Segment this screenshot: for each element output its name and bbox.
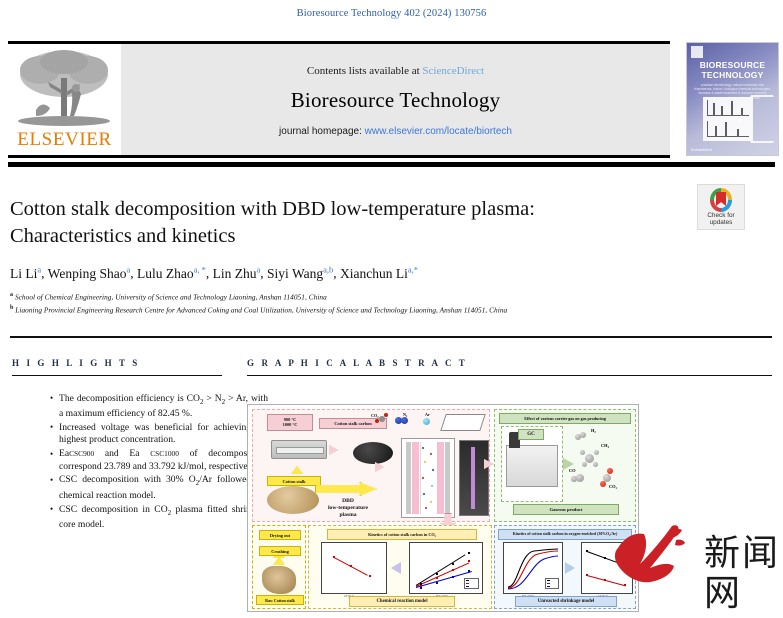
unreacted-shrinkage-model-label: Unreacted shrinkage model [515, 596, 617, 607]
list-item: The decomposition efficiency is CO2 > N2… [50, 393, 268, 421]
dbd-line3: plasma [339, 512, 356, 518]
arrow-to-dbd-icon [315, 482, 377, 496]
list-item: EaCSC900 and Ea CSC1000 of decomposi-tio… [50, 448, 268, 473]
elsevier-logo: ELSEVIER [8, 44, 121, 155]
author-name: Xianchun Li [340, 266, 408, 281]
dbd-line1: DBD [342, 498, 354, 504]
author-name: Siyi Wang [267, 266, 323, 281]
graphical-abstract-figure[interactable]: 900 °C 1000 °C Cotton stalk carbon Cotto… [247, 404, 639, 612]
page-title: Cotton stalk decomposition with DBD low-… [10, 196, 670, 250]
author-sep: , [206, 266, 213, 281]
author-item[interactable]: Siyi Wanga,b [267, 266, 333, 281]
gc-label: GC [518, 429, 544, 440]
homepage-prefix: journal homepage: [279, 126, 365, 137]
crossmark-line1: Check for [707, 212, 734, 219]
author-name: Wenping Shao [48, 266, 127, 281]
homepage-line: journal homepage: www.elsevier.com/locat… [279, 126, 512, 137]
crossmark-line2: updates [710, 219, 733, 226]
raw-cotton-stalk-icon [262, 566, 296, 594]
list-item: CSC decomposition with 30% O2/Ar followe… [50, 474, 268, 502]
title-line-1: Cotton stalk decomposition with DBD low-… [10, 196, 670, 223]
cotton-stalk-label: Cotton stalk [267, 476, 321, 486]
ga-plasma-panel: 900 °C 1000 °C Cotton stalk carbon Cotto… [252, 409, 490, 522]
affiliation-text: School of Chemical Engineering, Universi… [15, 292, 327, 301]
masthead-bottom-rule [8, 155, 670, 158]
red-brush-logo-icon [610, 520, 706, 590]
temp-900: 900 °C [284, 417, 297, 422]
sciencedirect-link[interactable]: ScienceDirect [422, 65, 484, 77]
molecule-diagram: H₂ CH₄ CO CO₂ [563, 426, 633, 500]
author-item[interactable]: Xianchun Lia,* [340, 266, 418, 281]
molecule-label-co: CO [569, 468, 576, 473]
step-crushing-label: Crushing [259, 546, 301, 556]
author-sep: , [130, 266, 137, 281]
list-item: CSC decomposition in CO2 plasma fitted s… [50, 504, 268, 532]
affiliation-a: a School of Chemical Engineering, Univer… [10, 292, 770, 301]
ga-co2-kinetics-panel: Kinetics of cotton stalk carbon in CO₂ 1… [308, 525, 492, 609]
crossmark-badge[interactable]: Check for updates [697, 184, 745, 230]
highlights-underline [12, 375, 222, 376]
chart-legend [464, 578, 479, 589]
author-affiliation-mark: a,b [323, 264, 333, 274]
masthead: ELSEVIER Contents lists available at Sci… [8, 44, 670, 155]
news-site-logo: 新闻网 [608, 518, 780, 604]
affiliation-b: b Liaoning Provincial Engineering Resear… [10, 305, 770, 314]
author-item[interactable]: Lulu Zhaoa, * [137, 266, 206, 281]
legend-label-ar: Ar [425, 412, 430, 417]
gc-machine-icon [506, 445, 558, 487]
arrow-up-prep-2-icon [273, 557, 285, 565]
crossmark-label: Check for updates [698, 212, 744, 226]
author-affiliation-mark: a,* [408, 264, 418, 274]
title-line-2: Characteristics and kinetics [10, 223, 670, 250]
legend-dot-ar [423, 418, 430, 425]
author-name: Lin Zhu [213, 266, 257, 281]
homepage-link[interactable]: www.elsevier.com/locate/biortech [365, 126, 512, 137]
header-divider [8, 162, 775, 167]
temp-1000: 1000 °C [283, 422, 298, 427]
legend-dot-co2-c [379, 416, 385, 422]
arrow-carbon-to-reactor-icon [375, 462, 384, 472]
elsevier-tree-icon [14, 48, 115, 130]
journal-title: Bioresource Technology [291, 88, 501, 113]
molecule-label-co2: CO₂ [609, 484, 617, 489]
author-item[interactable]: Li Lia [10, 266, 41, 281]
list-item: Increased voltage was beneficial for ach… [50, 422, 268, 447]
arrow-up-stalk-icon [291, 466, 303, 474]
cover-footer: ScienceDirect [691, 148, 712, 152]
cover-title-line2: TECHNOLOGY [702, 70, 764, 80]
dbd-plasma-label: DBD low-temperature plasma [311, 498, 385, 519]
temperature-label: 900 °C 1000 °C [267, 414, 313, 431]
author-name: Li Li [10, 266, 37, 281]
affiliation-text: Liaoning Provincial Engineering Research… [15, 305, 507, 314]
ga-gas-product-panel: Effect of various carrier gas on gas pro… [494, 409, 636, 522]
chart-legend [545, 578, 559, 589]
highlights-list: The decomposition efficiency is CO2 > N2… [10, 393, 268, 533]
gaseous-product-label: Gaseous product [513, 504, 619, 515]
legend-label-co2: CO₂ [371, 413, 379, 418]
cover-elsevier-mark [691, 46, 703, 58]
chart-conversion-o2ar: Time (min) [503, 542, 563, 594]
carbon-sample-icon [353, 442, 393, 464]
author-name: Lulu Zhao [137, 266, 194, 281]
chemical-reaction-model-label: Chemical reaction model [349, 596, 455, 607]
elsevier-wordmark: ELSEVIER [8, 129, 121, 151]
green-panel-title: Effect of various carrier gas on gas pro… [499, 413, 631, 424]
dbd-reactor-schematic [401, 438, 455, 518]
contents-prefix: Contents lists available at [307, 65, 422, 77]
author-list: Li Lia, Wenping Shaoa, Lulu Zhaoa, *, Li… [10, 264, 710, 282]
journal-cover-thumbnail: BIORESOURCE TECHNOLOGY practical microbi… [686, 42, 779, 156]
arrow-right-blue-icon [565, 562, 575, 574]
contents-line: Contents lists available at ScienceDirec… [307, 65, 484, 77]
chart-arrhenius-co2: 1/T (K⁻¹) [321, 542, 387, 594]
chart-conversion-co2: Time (min) [409, 542, 483, 594]
graphical-abstract-underline [247, 375, 772, 376]
ga-preparation-panel: Drying out Crushing Raw Cotton stalk [252, 525, 306, 609]
molecule-label-h2: H₂ [591, 428, 596, 433]
legend-dot-n2-b [401, 417, 408, 424]
author-sep: , [333, 266, 340, 281]
arrow-furnace-to-carbon-icon [329, 445, 338, 455]
highlights-heading: H I G H L I G H T S [12, 358, 140, 368]
graphical-abstract-heading: G R A P H I C A L A B S T R A C T [247, 358, 467, 368]
author-affiliation-mark: a, * [194, 264, 206, 274]
affiliation-mark: a [10, 292, 13, 298]
journal-band: Contents lists available at ScienceDirec… [121, 44, 670, 155]
sections-divider [10, 336, 772, 338]
reactor-photo [459, 440, 489, 516]
cover-title: BIORESOURCE TECHNOLOGY [691, 61, 774, 80]
cover-title-line1: BIORESOURCE [700, 60, 766, 70]
molecule-label-ch4: CH₄ [601, 443, 609, 448]
affiliation-mark: b [10, 305, 13, 311]
article-first-page: Bioresource Technology 402 (2024) 130756 [0, 0, 783, 618]
arrow-left-purple-icon [391, 562, 401, 574]
electrode-plate-icon [440, 414, 486, 431]
furnace-icon [271, 440, 327, 459]
running-head: Bioresource Technology 402 (2024) 130756 [0, 8, 783, 19]
news-site-logo-text: 新闻网 [704, 534, 780, 614]
step-drying-label: Drying out [259, 530, 301, 540]
dbd-line2: low-temperature [328, 505, 368, 511]
orange-panel-title: Kinetics of cotton stalk carbon in CO₂ [327, 529, 477, 540]
gc-instrument-box: GC [501, 426, 563, 502]
step-raw-stalk-label: Raw Cotton stalk [256, 595, 304, 605]
author-item[interactable]: Lin Zhua [213, 266, 261, 281]
arrow-reactor-to-gc-icon [484, 459, 494, 469]
author-item[interactable]: Wenping Shaoa [48, 266, 131, 281]
legend-dot-co2-o2 [384, 413, 388, 417]
